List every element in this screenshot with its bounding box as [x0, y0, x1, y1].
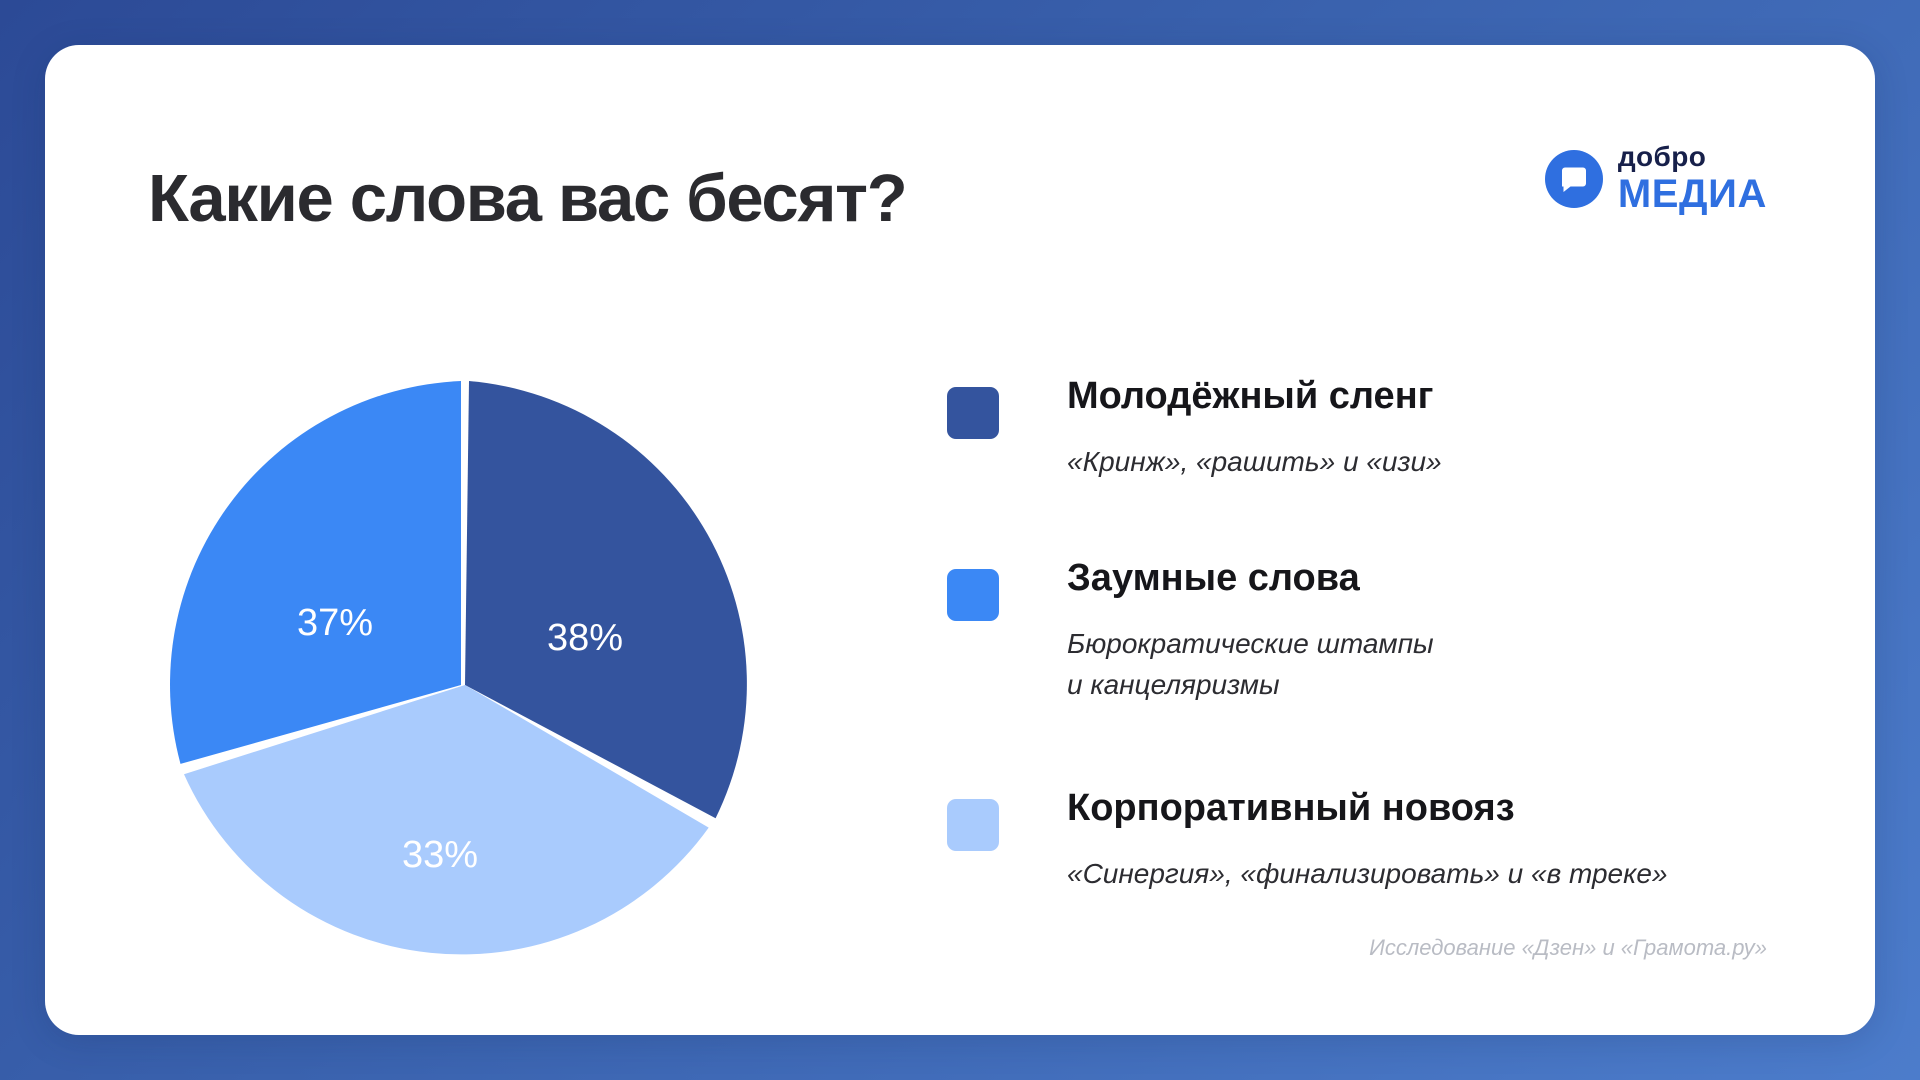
legend-subtitle-zaumnye-slova: Бюрократические штампы и канцеляризмы [1067, 623, 1765, 706]
legend-swatch-zaumnye-slova [947, 569, 999, 621]
legend-subtitle-korporativnyy-novoyaz: «Синергия», «финализировать» и «в треке» [1067, 853, 1765, 894]
brand-line-dobro: добро [1618, 143, 1767, 171]
brand-wordmark: добро МЕДИА [1618, 143, 1767, 214]
legend-swatch-molodyozhnyy-sleng [947, 387, 999, 439]
legend-title-molodyozhnyy-sleng: Молодёжный сленг [1067, 375, 1765, 419]
page-title: Какие слова вас бесят? [148, 160, 906, 237]
speech-bubble-icon [1545, 150, 1603, 208]
brand-logo: добро МЕДИА [1545, 143, 1767, 214]
legend-item-zaumnye-slova[interactable]: Заумные слова Бюрократические штампы и к… [945, 557, 1765, 706]
infographic-card: Какие слова вас бесят? добро МЕДИА 38% 3… [45, 45, 1875, 1035]
legend-title-zaumnye-slova: Заумные слова [1067, 557, 1765, 601]
legend-swatch-korporativnyy-novoyaz [947, 799, 999, 851]
legend-subtitle-molodyozhnyy-sleng: «Кринж», «рашить» и «изи» [1067, 441, 1765, 482]
pie-chart: 38% 33% 37% [155, 375, 775, 995]
pie-label-33: 33% [402, 834, 478, 876]
pie-label-38: 38% [547, 617, 623, 659]
legend-item-molodyozhnyy-sleng[interactable]: Молодёжный сленг «Кринж», «рашить» и «из… [945, 375, 1765, 482]
pie-label-37: 37% [297, 602, 373, 644]
brand-line-media: МЕДИА [1618, 174, 1767, 214]
source-attribution: Исследование «Дзен» и «Грамота.ру» [1369, 935, 1767, 961]
legend-title-korporativnyy-novoyaz: Корпоративный новояз [1067, 787, 1765, 831]
pie-chart-svg: 38% 33% 37% [155, 375, 775, 995]
legend-item-korporativnyy-novoyaz[interactable]: Корпоративный новояз «Синергия», «финали… [945, 787, 1765, 894]
